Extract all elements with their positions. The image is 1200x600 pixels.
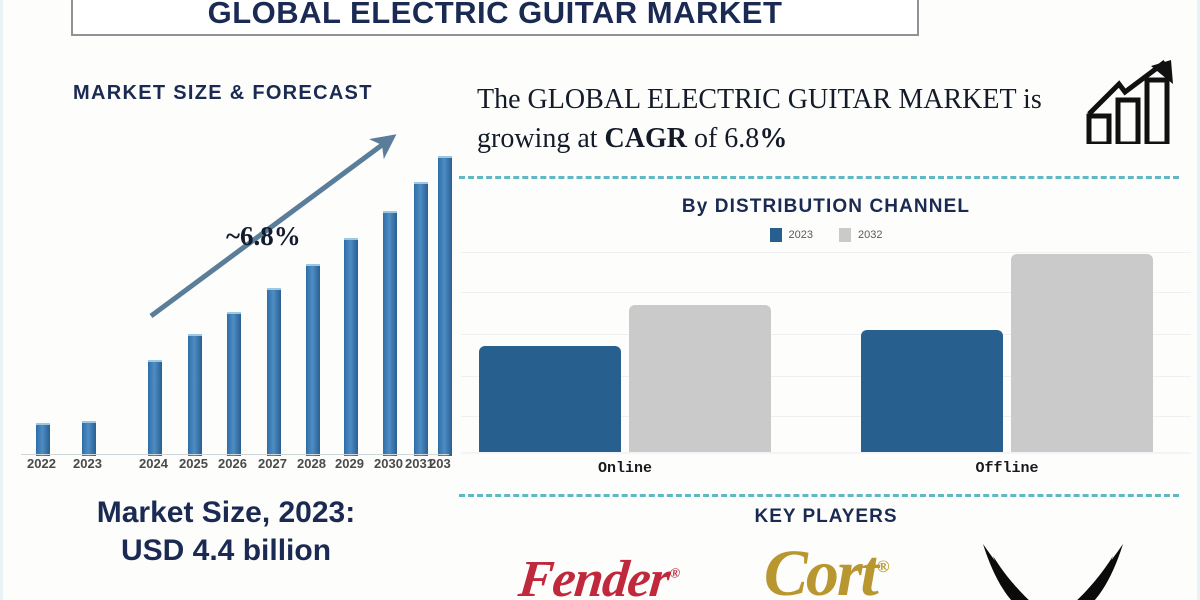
headline-statement: The GLOBAL ELECTRIC GUITAR MARKET is gro… [477, 80, 1077, 158]
cort-wordmark: Cort [764, 537, 877, 600]
fender-wordmark: Fender [516, 551, 672, 600]
forecast-x-tick: 2022 [27, 456, 56, 471]
distribution-chart-legend: 20232032 [449, 228, 1200, 242]
market-size-forecast-heading: MARKET SIZE & FORECAST [73, 82, 373, 105]
headline-text-part-2: of 6.8 [687, 123, 759, 154]
infographic-page: GLOBAL ELECTRIC GUITAR MARKET MARKET SIZ… [0, 0, 1200, 600]
key-players-logos: Fender® Cort® DEAN [449, 530, 1200, 600]
forecast-x-tick: 2026 [218, 456, 247, 471]
forecast-x-tick: 2023 [73, 456, 102, 471]
forecast-x-axis: 2022202320242025202620272028202920302031… [21, 456, 449, 478]
market-size-forecast-chart: ~6.8% [21, 116, 449, 456]
dean-wings-icon: DEAN [973, 538, 1133, 600]
forecast-x-tick: 2024 [139, 456, 168, 471]
distribution-category-label: Online [479, 460, 771, 477]
forecast-x-tick: 2030 [374, 456, 403, 471]
legend-entry-2023[interactable]: 2023 [770, 228, 813, 242]
logo-dean: DEAN [973, 530, 1133, 600]
distribution-bar [861, 330, 1003, 452]
forecast-x-tick: 2025 [179, 456, 208, 471]
divider-bottom [459, 494, 1179, 497]
forecast-x-tick: 2029 [335, 456, 364, 471]
divider-top [459, 176, 1179, 179]
legend-entry-2032[interactable]: 2032 [839, 228, 882, 242]
fender-registered-mark: ® [669, 567, 680, 582]
market-size-callout: Market Size, 2023: USD 4.4 billion [3, 494, 449, 569]
key-players-title: KEY PLAYERS [449, 506, 1200, 528]
logo-fender: Fender® [519, 530, 678, 600]
distribution-channel-chart [461, 248, 1191, 454]
headline-cagr-emphasis: CAGR [605, 123, 687, 154]
x-axis-line [461, 452, 1191, 454]
cagr-annotation-label: ~6.8% [226, 221, 301, 252]
distribution-bar [629, 305, 771, 452]
page-title: GLOBAL ELECTRIC GUITAR MARKET [208, 0, 783, 31]
growth-bar-chart-arrow-icon [1085, 58, 1181, 144]
forecast-x-tick: 2028 [297, 456, 326, 471]
headline-percent-symbol: % [759, 123, 787, 154]
logo-cort: Cort® [764, 530, 888, 600]
legend-label: 2023 [789, 229, 813, 241]
cort-registered-mark: ® [877, 557, 888, 576]
legend-label: 2032 [858, 229, 882, 241]
legend-swatch [839, 228, 851, 242]
forecast-x-tick: 203 [429, 456, 451, 471]
market-size-line-2: USD 4.4 billion [3, 532, 449, 570]
cagr-trend-arrow-icon [21, 116, 449, 456]
distribution-bar [1011, 254, 1153, 452]
market-size-line-1: Market Size, 2023: [3, 494, 449, 532]
distribution-bar [479, 346, 621, 452]
title-box: GLOBAL ELECTRIC GUITAR MARKET [71, 0, 919, 36]
forecast-x-tick: 2027 [258, 456, 287, 471]
market-size-forecast-panel: MARKET SIZE & FORECAST ~6.8% 20222023202… [3, 44, 449, 600]
right-panel: The GLOBAL ELECTRIC GUITAR MARKET is gro… [449, 44, 1200, 600]
legend-swatch [770, 228, 782, 242]
distribution-category-label: Offline [861, 460, 1153, 477]
distribution-channel-title: By DISTRIBUTION CHANNEL [449, 196, 1200, 218]
forecast-baseline [21, 454, 449, 455]
gridline [461, 252, 1191, 253]
